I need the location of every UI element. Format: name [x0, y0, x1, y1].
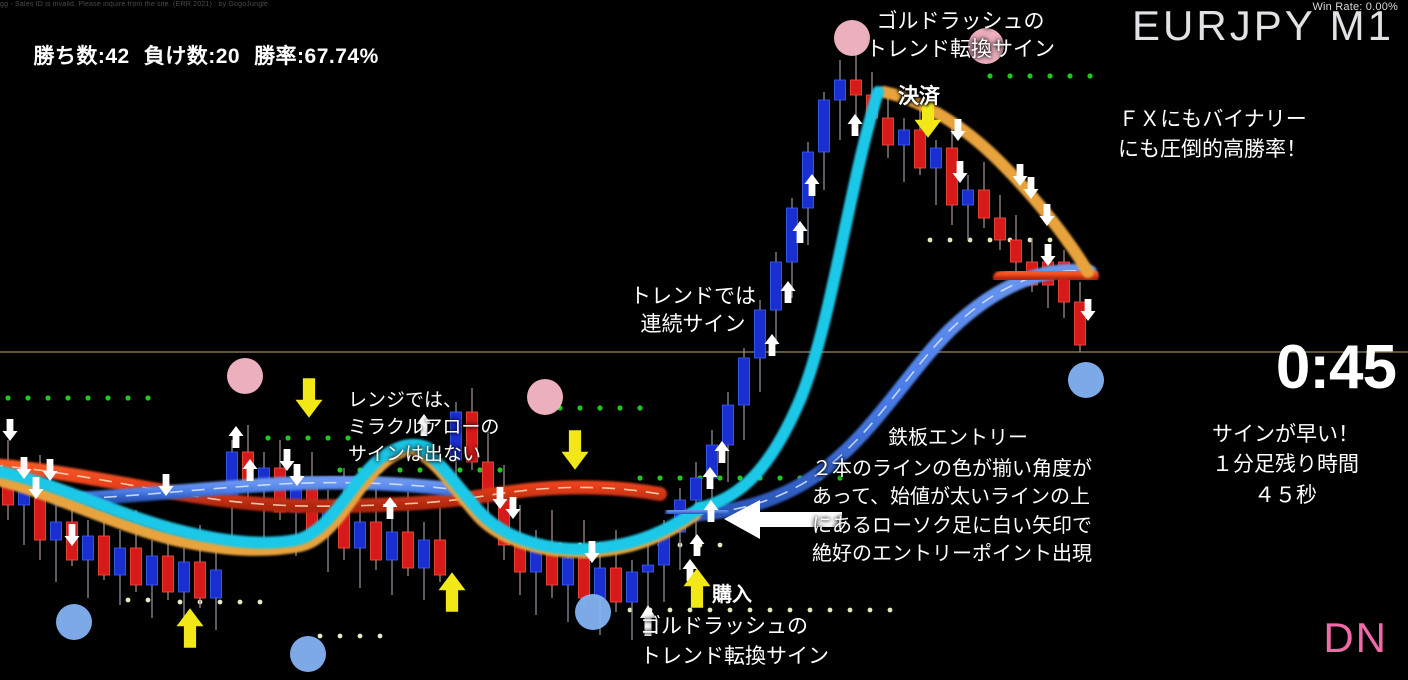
label-konyu: 購入 [712, 578, 752, 607]
candle-body[interactable] [163, 556, 174, 592]
white-up-arrow-icon [848, 114, 863, 136]
note-fx-binary: ＦＸにもバイナリー にも圧倒的高勝率！ [1118, 105, 1307, 166]
white-down-arrow-icon [3, 419, 18, 441]
candle-body[interactable] [579, 558, 590, 598]
candle-body[interactable] [211, 570, 222, 598]
symbol-timeframe: EURJPY M1 [1132, 2, 1394, 50]
blue-reversal-circle-icon [575, 594, 611, 630]
note-sign-early: サインが早い！ １分足残り時間 ４５秒 [1212, 420, 1359, 511]
white-up-arrow-icon [229, 426, 244, 448]
candle-body[interactable] [611, 568, 622, 602]
wins-label: 勝ち数:42 [33, 45, 129, 68]
candle-body[interactable] [99, 536, 110, 575]
white-up-arrow-icon [765, 334, 780, 356]
candle-body[interactable] [179, 562, 190, 592]
candle-body[interactable] [147, 556, 158, 585]
candle-body[interactable] [1011, 240, 1022, 262]
ma-band-blue-entry-stub [672, 511, 722, 513]
candle-body[interactable] [115, 548, 126, 575]
candle-body[interactable] [371, 522, 382, 560]
candle-body[interactable] [83, 536, 94, 560]
candle-body[interactable] [595, 568, 606, 598]
candle-body[interactable] [915, 130, 926, 168]
candle-body[interactable] [995, 218, 1006, 240]
terminal-error-line: gg - Sales ID is invalid. Please inquire… [0, 1, 420, 8]
candle-body[interactable] [627, 572, 638, 602]
candle-body[interactable] [931, 148, 942, 168]
yellow-buy-arrow-icon [177, 608, 204, 648]
candle-body[interactable] [563, 558, 574, 585]
candle-body[interactable] [835, 80, 846, 100]
candle-body[interactable] [131, 548, 142, 585]
candle-body[interactable] [419, 540, 430, 568]
candle-body[interactable] [691, 478, 702, 500]
blue-reversal-circle-icon [1068, 362, 1104, 398]
note-tetsuban-heading: 鉄板エントリー [888, 425, 1028, 451]
stats-bar: 勝ち数:42負け数:20勝率:67.74% [8, 16, 393, 94]
label-kessai: 決済 [898, 80, 940, 110]
candle-body[interactable] [1075, 302, 1086, 345]
candle-body[interactable] [755, 310, 766, 358]
countdown-timer: 0:45 [1276, 332, 1396, 403]
candle-body[interactable] [51, 522, 62, 540]
note-tetsuban-body: ２本のラインの色が揃い角度が あって、始値が太いラインの上 にあるローソク足に白… [812, 455, 1092, 569]
candle-body[interactable] [195, 562, 206, 598]
candle-body[interactable] [387, 532, 398, 560]
candle-body[interactable] [723, 405, 734, 445]
candle-body[interactable] [355, 522, 366, 548]
candle-body[interactable] [819, 100, 830, 152]
ma-slow-orange-peak-descent [884, 92, 1088, 272]
candle-body[interactable] [435, 540, 446, 575]
losses-label: 負け数:20 [144, 45, 240, 68]
candle-body[interactable] [979, 190, 990, 218]
candle-body[interactable] [643, 565, 654, 572]
candle-body[interactable] [899, 130, 910, 145]
candle-body[interactable] [883, 118, 894, 145]
note-goldrush-top: ゴルドラッシュの トレンド転換サイン [866, 8, 1055, 63]
candle-body[interactable] [963, 190, 974, 205]
brand-logo-dn: DN [1323, 614, 1388, 662]
candle-body[interactable] [739, 358, 750, 405]
ma-band-red-right [1000, 273, 1092, 278]
chart-screenshot: indicator attached ... terminal gg - Sal… [0, 0, 1408, 680]
candle-body[interactable] [787, 208, 798, 262]
yellow-sell-arrow-icon [562, 430, 589, 470]
yellow-sell-arrow-icon [296, 378, 323, 418]
pink-reversal-circle-icon [834, 20, 870, 56]
pink-reversal-circle-icon [227, 358, 263, 394]
note-trend-continuous: トレンドでは 連続サイン [630, 283, 756, 338]
white-up-arrow-icon [781, 281, 796, 303]
blue-reversal-circle-icon [56, 604, 92, 640]
yellow-buy-arrow-icon [439, 572, 466, 612]
note-range-no-sign: レンジでは、 ミラクルアローの サインは出ない [348, 388, 499, 469]
price-chart-canvas[interactable] [0, 0, 1408, 680]
winrate-label: 勝率:67.74% [254, 45, 379, 68]
candle-body[interactable] [771, 262, 782, 310]
candle-body[interactable] [851, 80, 862, 95]
blue-reversal-circle-icon [290, 636, 326, 672]
note-goldrush-bottom: ゴルドラッシュの トレンド転換サイン [640, 612, 829, 672]
candle-body[interactable] [403, 532, 414, 568]
pink-reversal-circle-icon [527, 379, 563, 415]
